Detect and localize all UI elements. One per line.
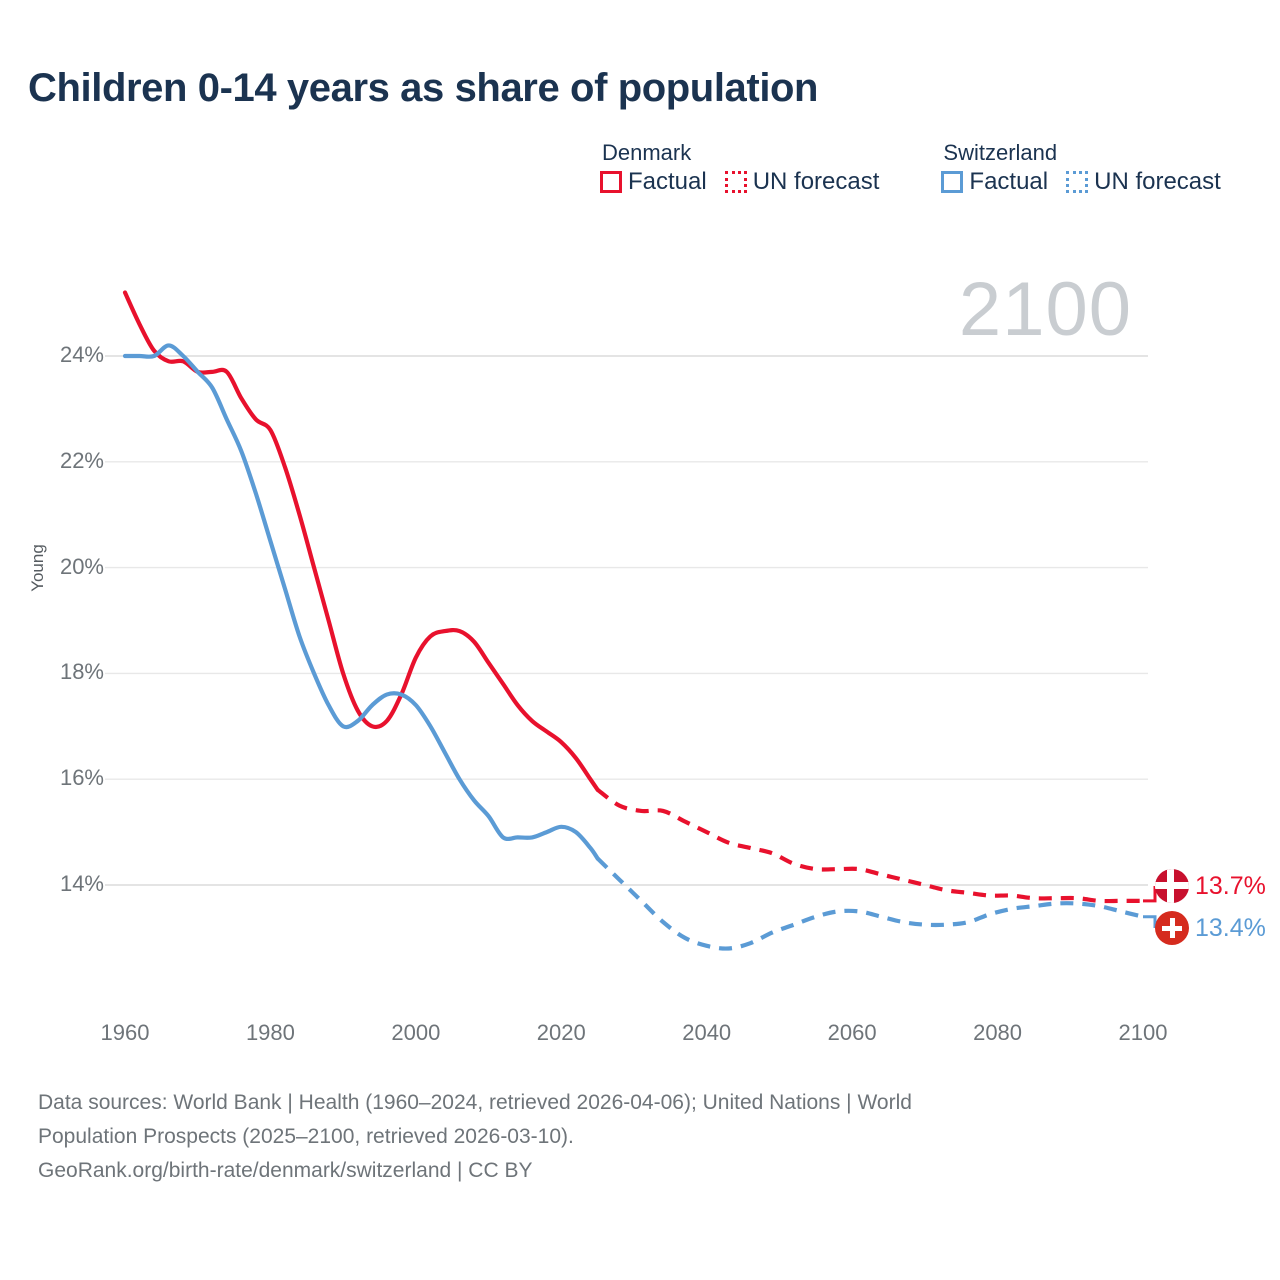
y-tick-label-24: 24% xyxy=(20,344,104,366)
end-value-denmark: 13.7% xyxy=(1195,874,1266,899)
end-label-denmark[interactable]: 13.7% xyxy=(1155,869,1266,903)
line-switzerland-factual xyxy=(125,345,598,858)
denmark-flag-icon xyxy=(1155,869,1189,903)
switzerland-flag-icon xyxy=(1155,911,1189,945)
y-tick-label-22: 22% xyxy=(20,450,104,472)
x-tick-label-2100: 2100 xyxy=(1093,1022,1193,1044)
footer-line-1: Data sources: World Bank | Health (1960–… xyxy=(38,1086,1188,1120)
x-tick-label-2000: 2000 xyxy=(366,1022,466,1044)
end-value-switzerland: 13.4% xyxy=(1195,916,1266,941)
chart-page: Children 0-14 years as share of populati… xyxy=(0,0,1280,1280)
footer-line-3[interactable]: GeoRank.org/birth-rate/denmark/switzerla… xyxy=(38,1154,1188,1188)
x-tick-label-1960: 1960 xyxy=(75,1022,175,1044)
x-tick-label-2040: 2040 xyxy=(657,1022,757,1044)
connector-denmark xyxy=(1143,886,1155,901)
x-tick-label-2020: 2020 xyxy=(511,1022,611,1044)
footer-line-2: Population Prospects (2025–2100, retriev… xyxy=(38,1120,1188,1154)
y-tick-label-20: 20% xyxy=(20,556,104,578)
y-tick-label-14: 14% xyxy=(20,873,104,895)
y-tick-label-18: 18% xyxy=(20,661,104,683)
footer-sources: Data sources: World Bank | Health (1960–… xyxy=(38,1086,1188,1188)
x-tick-label-1980: 1980 xyxy=(220,1022,320,1044)
end-label-switzerland[interactable]: 13.4% xyxy=(1155,911,1266,945)
connector-switzerland xyxy=(1143,917,1155,928)
y-tick-label-16: 16% xyxy=(20,767,104,789)
x-tick-label-2060: 2060 xyxy=(802,1022,902,1044)
x-tick-label-2080: 2080 xyxy=(948,1022,1048,1044)
